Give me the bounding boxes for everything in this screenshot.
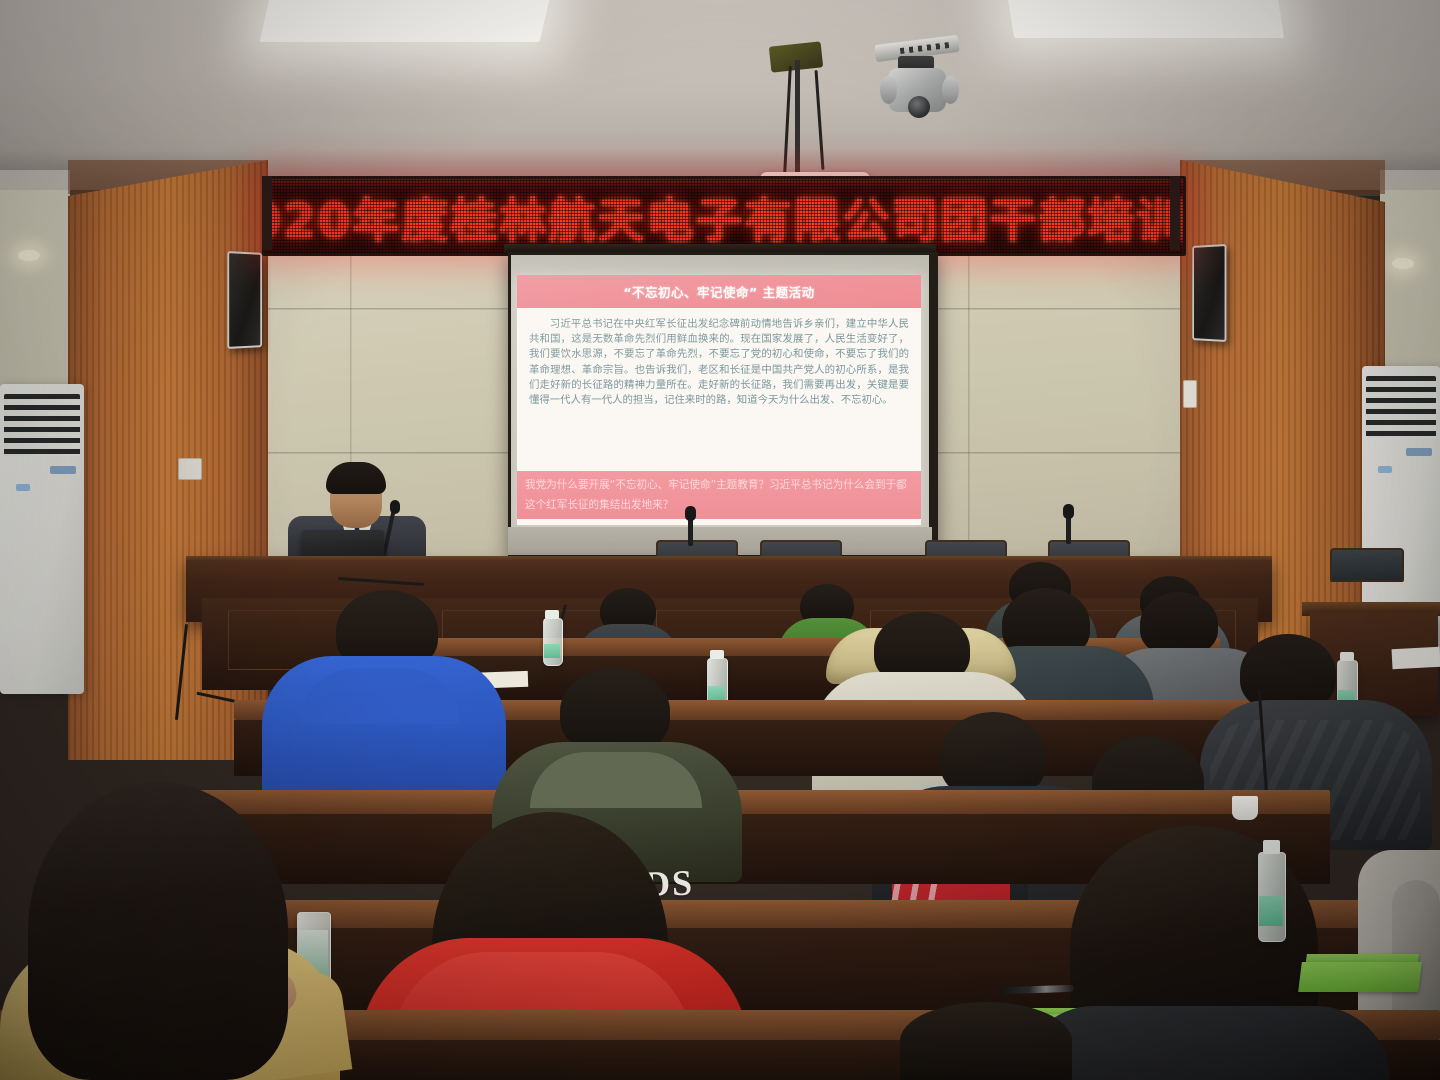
ac-display-icon	[16, 484, 30, 491]
projection-screen-frame: “不忘初心、牢记使命” 主题活动 习近平总书记在中央红军长征出发纪念碑前动情地告…	[508, 252, 938, 560]
ac-grille-icon	[1366, 376, 1436, 438]
bottle-cap-icon	[1340, 652, 1354, 661]
green-notebook[interactable]	[1298, 962, 1422, 992]
led-bezel-right	[1170, 176, 1180, 250]
ac-brand-badge	[1406, 448, 1432, 456]
ceiling-light-right	[1006, 0, 1284, 38]
bottle-label	[544, 644, 560, 658]
ac-display-icon	[1378, 466, 1392, 473]
attendee-hood	[530, 752, 702, 808]
downlight-right	[1392, 258, 1414, 269]
ac-brand-badge	[50, 466, 76, 474]
bottle-label	[708, 686, 725, 701]
floor-ac-left[interactable]	[0, 384, 84, 694]
bottle-cap-icon	[545, 610, 559, 619]
camera-side-disc	[942, 76, 959, 104]
slide-footer-question: 我党为什么要开展“不忘初心、牢记使命”主题教育？习近平总书记为什么会到于都这个红…	[517, 471, 921, 519]
attendee-head	[1140, 592, 1218, 656]
bottle-cap-icon	[710, 650, 724, 659]
head-table-chair	[1330, 548, 1404, 582]
presentation-slide: “不忘初心、牢记使命” 主题活动 习近平总书记在中央红军长征出发纪念碑前动情地告…	[517, 275, 921, 525]
presenter-hair	[326, 462, 386, 494]
mic-capsule-icon	[390, 500, 400, 514]
projection-screen: “不忘初心、牢记使命” 主题活动 习近平总书记在中央红军长征出发纪念碑前动情地告…	[511, 255, 929, 551]
camera-side-disc	[880, 76, 897, 104]
mic-capsule-icon	[685, 506, 696, 521]
water-bottle	[543, 618, 563, 666]
paper-cup	[1232, 796, 1258, 820]
mic-capsule-icon	[1063, 504, 1074, 519]
slide-body-text: 习近平总书记在中央红军长征出发纪念碑前动情地告诉乡亲们，建立中华人民共和国，这是…	[517, 308, 921, 412]
bottle-label	[1259, 896, 1283, 926]
ac-grille-icon	[4, 394, 80, 456]
projector-pole	[795, 60, 800, 178]
attendee-head-long-hair	[28, 782, 288, 1080]
conference-room-scene: 2020年度桂林航天电子有限公司团干部培训班 “不忘初心、牢记使命” 主题活动 …	[0, 0, 1440, 1080]
podium-paper	[1392, 647, 1440, 669]
wall-outlet-plate[interactable]	[178, 458, 202, 480]
wall-speaker-left	[227, 251, 262, 349]
attendee-dark-jacket	[1020, 1006, 1390, 1080]
attendee-head	[900, 1002, 1072, 1080]
led-banner-text: 2020年度桂林航天电子有限公司团干部培训班	[265, 179, 1183, 253]
ceiling-light-left	[260, 0, 553, 42]
slide-title: “不忘初心、牢记使命” 主题活动	[517, 275, 921, 308]
wall-speaker-right	[1192, 244, 1226, 342]
downlight-left	[18, 250, 40, 261]
wall-switch-plate[interactable]	[1183, 380, 1197, 408]
camera-lens-icon	[908, 96, 930, 118]
led-bezel-left	[262, 176, 272, 250]
bottle-cap-icon	[1263, 840, 1280, 854]
